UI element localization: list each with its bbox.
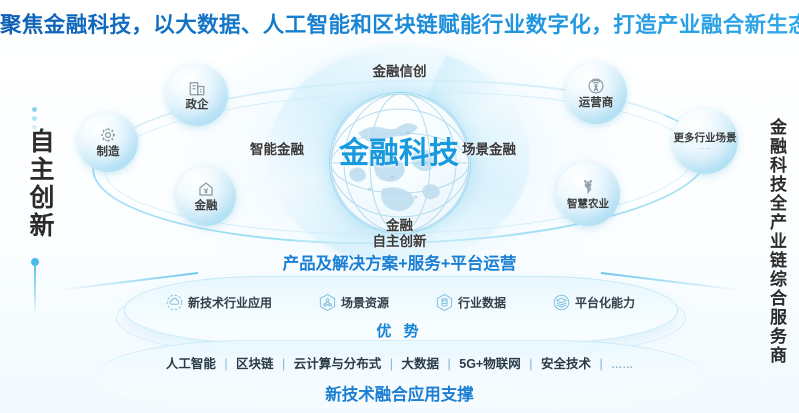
page-title: 聚焦金融科技，以大数据、人工智能和区块链赋能行业数字化，打造产业融合新生态 bbox=[0, 8, 799, 39]
advantage-heading: 优 势 bbox=[0, 320, 799, 341]
industry-bubble-carrier[interactable]: 运营商 bbox=[565, 62, 627, 124]
database-hex-icon bbox=[435, 293, 454, 312]
technology-item: 云计算与分布式 bbox=[294, 357, 382, 371]
list-separator: | bbox=[599, 357, 602, 371]
signal-tower-icon bbox=[587, 77, 605, 95]
technology-item: 区块链 bbox=[236, 357, 274, 371]
layers-circle-icon bbox=[552, 293, 571, 312]
industry-bubble-label: 金融 bbox=[195, 200, 218, 213]
technology-footer: 新技术融合应用支撑 bbox=[0, 381, 799, 405]
industry-bubble-label: 制造 bbox=[97, 146, 120, 159]
technology-item: 安全技术 bbox=[541, 357, 591, 371]
center-bottom-label: 金融 自主创新 bbox=[0, 218, 799, 250]
wheat-icon bbox=[579, 178, 597, 196]
industry-bubble-label: 智慧农业 bbox=[567, 198, 609, 210]
molecule-hex-icon bbox=[318, 293, 337, 312]
capability-row: 新技术行业应用 场景资源 行业数据 bbox=[165, 288, 635, 316]
center-right-label: 场景金融 bbox=[462, 138, 516, 158]
solution-banner: 产品及解决方案+服务+平台运营 bbox=[188, 250, 611, 276]
capability-label: 行业数据 bbox=[458, 294, 506, 311]
solution-banner-label: 产品及解决方案+服务+平台运营 bbox=[188, 250, 611, 274]
technology-ellipsis: …… bbox=[611, 359, 633, 371]
center-left-label: 智能金融 bbox=[250, 138, 304, 158]
list-separator: | bbox=[224, 357, 227, 371]
list-separator: | bbox=[448, 357, 451, 371]
ellipsis-icon: …… bbox=[698, 145, 712, 151]
center-bottom-line1: 金融 bbox=[0, 218, 799, 234]
left-accent-line bbox=[34, 262, 36, 316]
center-top-label: 金融信创 bbox=[0, 60, 799, 80]
infographic-canvas: 聚焦金融科技，以大数据、人工智能和区块链赋能行业数字化，打造产业融合新生态 自主… bbox=[0, 0, 799, 413]
technology-list: 人工智能 | 区块链 | 云计算与分布式 | 大数据 | 5G+物联网 | 安全… bbox=[0, 353, 799, 372]
capability-item-scenario-resources[interactable]: 场景资源 bbox=[318, 293, 389, 312]
industry-bubble-more-scenarios[interactable]: 更多行业场景 …… bbox=[672, 108, 738, 174]
bank-icon bbox=[197, 180, 215, 198]
building-icon bbox=[188, 79, 206, 97]
capability-item-platform-capability[interactable]: 平台化能力 bbox=[552, 293, 635, 312]
gear-icon bbox=[99, 126, 117, 144]
center-bottom-line2: 自主创新 bbox=[0, 234, 799, 250]
technology-item: 5G+物联网 bbox=[459, 357, 520, 371]
industry-bubble-manufacturing[interactable]: 制造 bbox=[78, 112, 138, 172]
list-separator: | bbox=[390, 357, 393, 371]
industry-bubble-label: 政企 bbox=[186, 99, 209, 112]
industry-bubble-finance[interactable]: 金融 bbox=[176, 166, 236, 226]
capability-item-new-tech[interactable]: 新技术行业应用 bbox=[165, 293, 272, 312]
capability-item-industry-data[interactable]: 行业数据 bbox=[435, 293, 506, 312]
list-separator: | bbox=[282, 357, 285, 371]
industry-bubble-label: 运营商 bbox=[579, 97, 614, 110]
technology-item: 人工智能 bbox=[166, 357, 216, 371]
capability-label: 新技术行业应用 bbox=[188, 294, 272, 311]
capability-label: 平台化能力 bbox=[575, 294, 635, 311]
cloud-circle-icon bbox=[165, 293, 184, 312]
capability-label: 场景资源 bbox=[341, 294, 389, 311]
industry-bubble-government[interactable]: 政企 bbox=[166, 64, 228, 126]
technology-item: 大数据 bbox=[402, 357, 440, 371]
list-separator: | bbox=[529, 357, 532, 371]
industry-bubble-smart-agriculture[interactable]: 智慧农业 bbox=[556, 162, 620, 226]
industry-bubble-label: 更多行业场景 bbox=[674, 132, 737, 144]
